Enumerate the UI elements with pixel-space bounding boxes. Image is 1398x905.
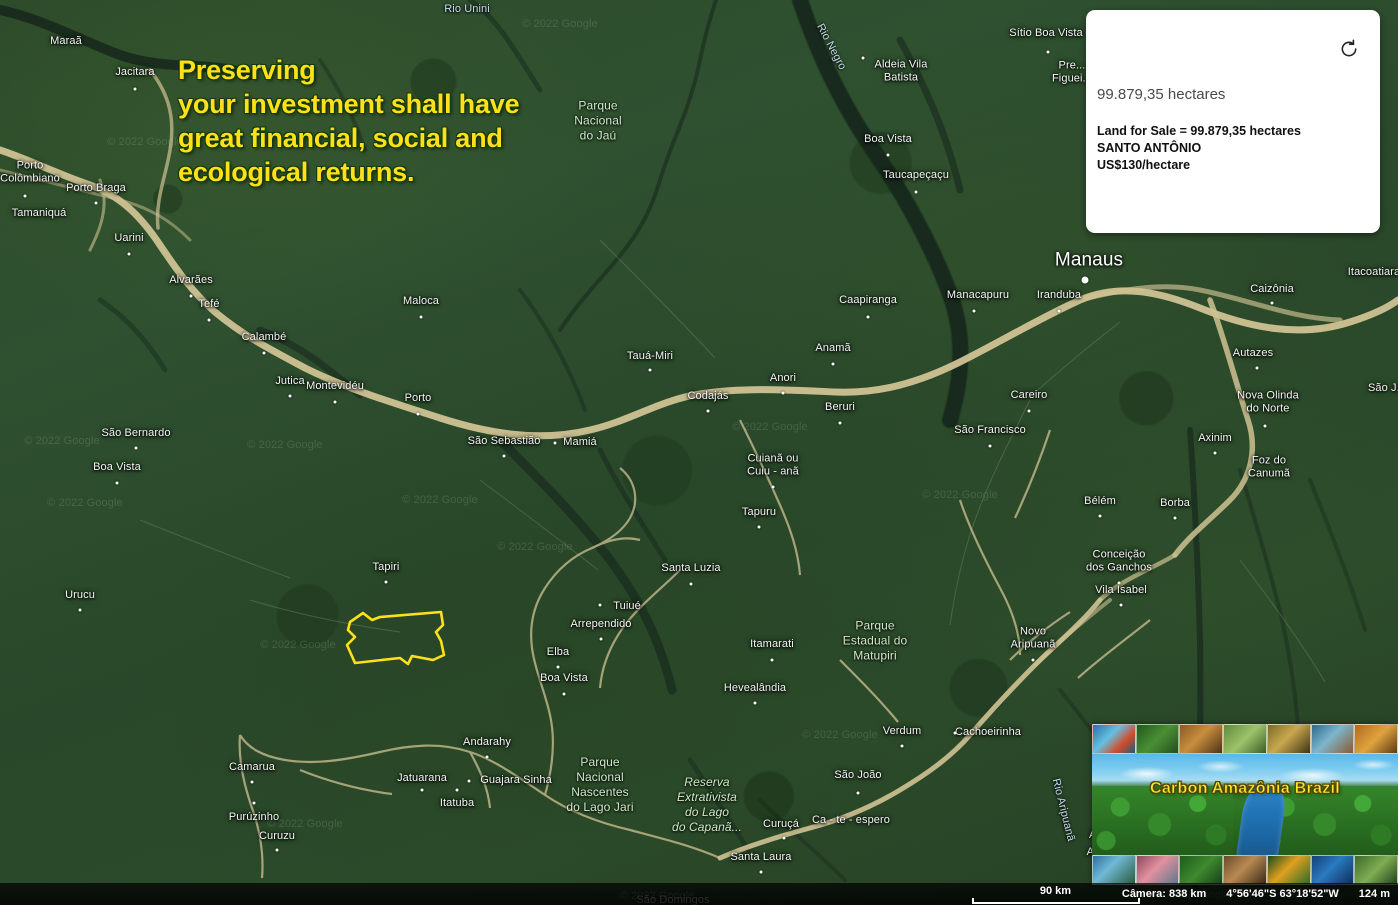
toucan-thumb xyxy=(1267,855,1311,885)
scale-bar-graphic xyxy=(972,898,1140,904)
panel-line-price: US$130/hectare xyxy=(1097,157,1301,174)
macaw-thumb xyxy=(1092,724,1136,754)
map-scale: 90 km xyxy=(968,885,1143,904)
indigenous-boat-thumb xyxy=(1311,724,1355,754)
rainforest-thumb xyxy=(1136,724,1180,754)
canopy-thumb xyxy=(1354,855,1398,885)
panel-details: Land for Sale = 99.879,35 hectares SANTO… xyxy=(1097,123,1301,174)
roads xyxy=(140,240,1325,682)
tributaries xyxy=(240,420,1150,878)
land-info-panel[interactable]: 99.879,35 hectares Land for Sale = 99.87… xyxy=(1086,10,1380,233)
banner-title: Carbon Amazônia Brazil xyxy=(1092,780,1398,798)
river-boat-thumb xyxy=(1223,724,1267,754)
pink-dolphin-thumb xyxy=(1136,855,1180,885)
panel-line-property: SANTO ANTÔNIO xyxy=(1097,140,1301,157)
panel-line-area: Land for Sale = 99.879,35 hectares xyxy=(1097,123,1301,140)
jaguar-thumb xyxy=(1267,724,1311,754)
banner-hero-image: Carbon Amazônia Brazil xyxy=(1092,754,1398,855)
status-bar: 90 km Câmera: 838 km 4°56'46"S 63°18'52"… xyxy=(0,883,1398,905)
reload-icon[interactable] xyxy=(1338,38,1360,60)
thumbnail-strip-top xyxy=(1092,724,1398,754)
map-canvas[interactable]: Rio UniniMaraãJacitaraRio NegroAldeia Vi… xyxy=(0,0,1398,905)
brand-banner[interactable]: Carbon Amazônia Brazil xyxy=(1092,724,1398,885)
thumbnail-strip-bottom xyxy=(1092,855,1398,885)
indigenous-village-thumb xyxy=(1223,855,1267,885)
scale-label: 90 km xyxy=(1040,885,1071,898)
golden-tamarin-thumb xyxy=(1354,724,1398,754)
plantation-thumb xyxy=(1092,855,1136,885)
coordinates: 4°56'46"S 63°18'52"W xyxy=(1226,888,1339,900)
elevation: 124 m xyxy=(1359,888,1390,900)
aerial-forest-thumb xyxy=(1179,855,1223,885)
land-for-sale-parcel xyxy=(347,612,444,664)
panel-title: 99.879,35 hectares xyxy=(1097,86,1225,103)
harvest-thumb xyxy=(1179,724,1223,754)
blue-macaw-thumb xyxy=(1311,855,1355,885)
